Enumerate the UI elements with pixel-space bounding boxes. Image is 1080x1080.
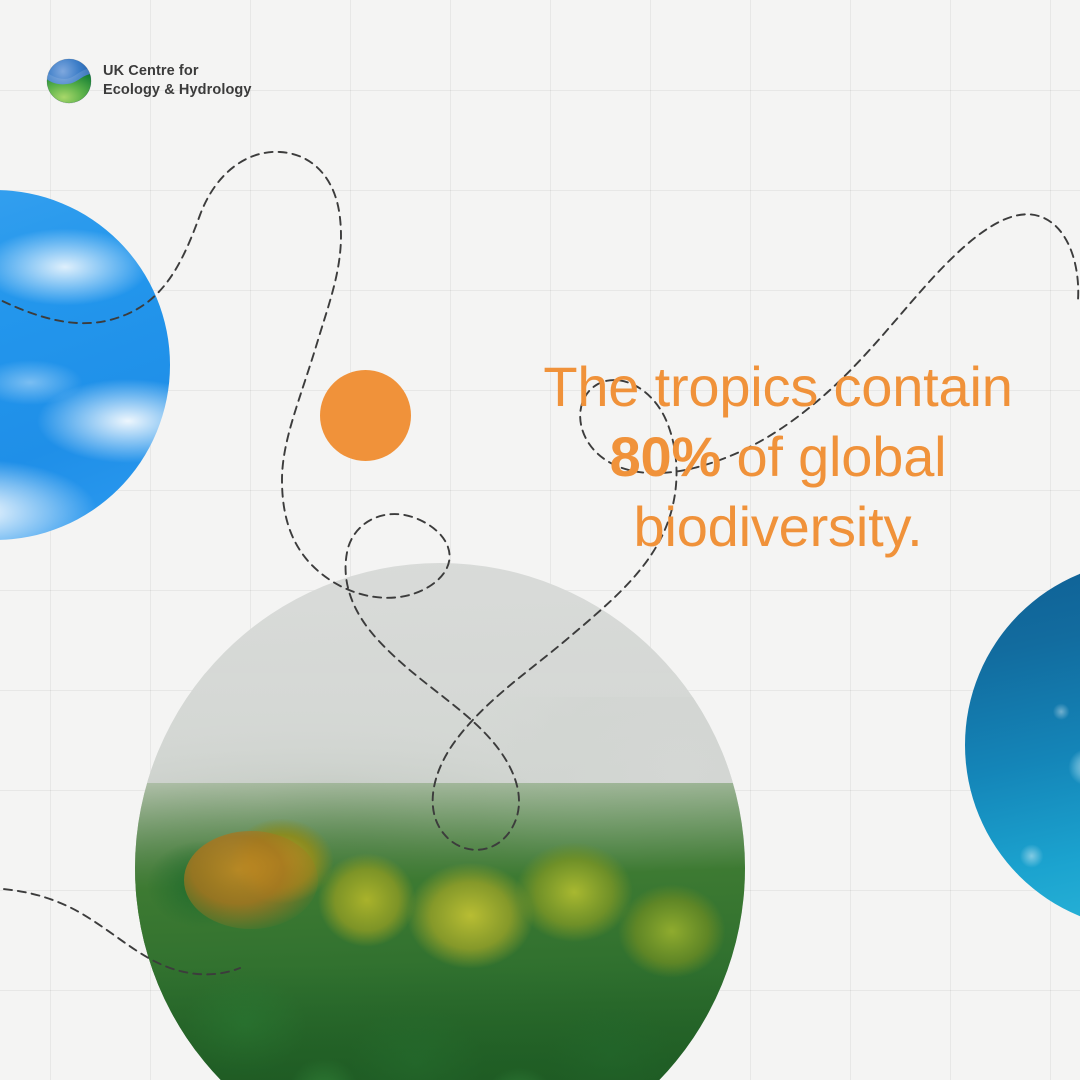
- headline-line-2-rest: of global: [721, 425, 946, 488]
- brand-name-line-1: UK Centre for: [103, 62, 252, 81]
- ukceh-globe-logo-icon: [46, 58, 92, 104]
- headline-line-3: biodiversity.: [500, 492, 1056, 562]
- orange-dot: [320, 370, 411, 461]
- brand-name-line-2: Ecology & Hydrology: [103, 81, 252, 100]
- headline-line-1: The tropics contain: [500, 352, 1056, 422]
- social-card-canvas: UK Centre for Ecology & Hydrology The tr…: [0, 0, 1080, 1080]
- water-bubbles-circle: [965, 560, 1080, 930]
- headline-line-2: 80% of global: [500, 422, 1056, 492]
- rainforest-foreground-leaves: [135, 966, 745, 1080]
- brand-logo: UK Centre for Ecology & Hydrology: [46, 58, 252, 104]
- rainforest-circle: [135, 563, 745, 1080]
- headline-statistic: 80%: [610, 425, 721, 488]
- sky-clouds-circle: [0, 190, 170, 540]
- brand-logo-text: UK Centre for Ecology & Hydrology: [103, 62, 252, 100]
- rainforest-orange-tree: [184, 831, 318, 929]
- headline: The tropics contain 80% of global biodiv…: [500, 352, 1056, 562]
